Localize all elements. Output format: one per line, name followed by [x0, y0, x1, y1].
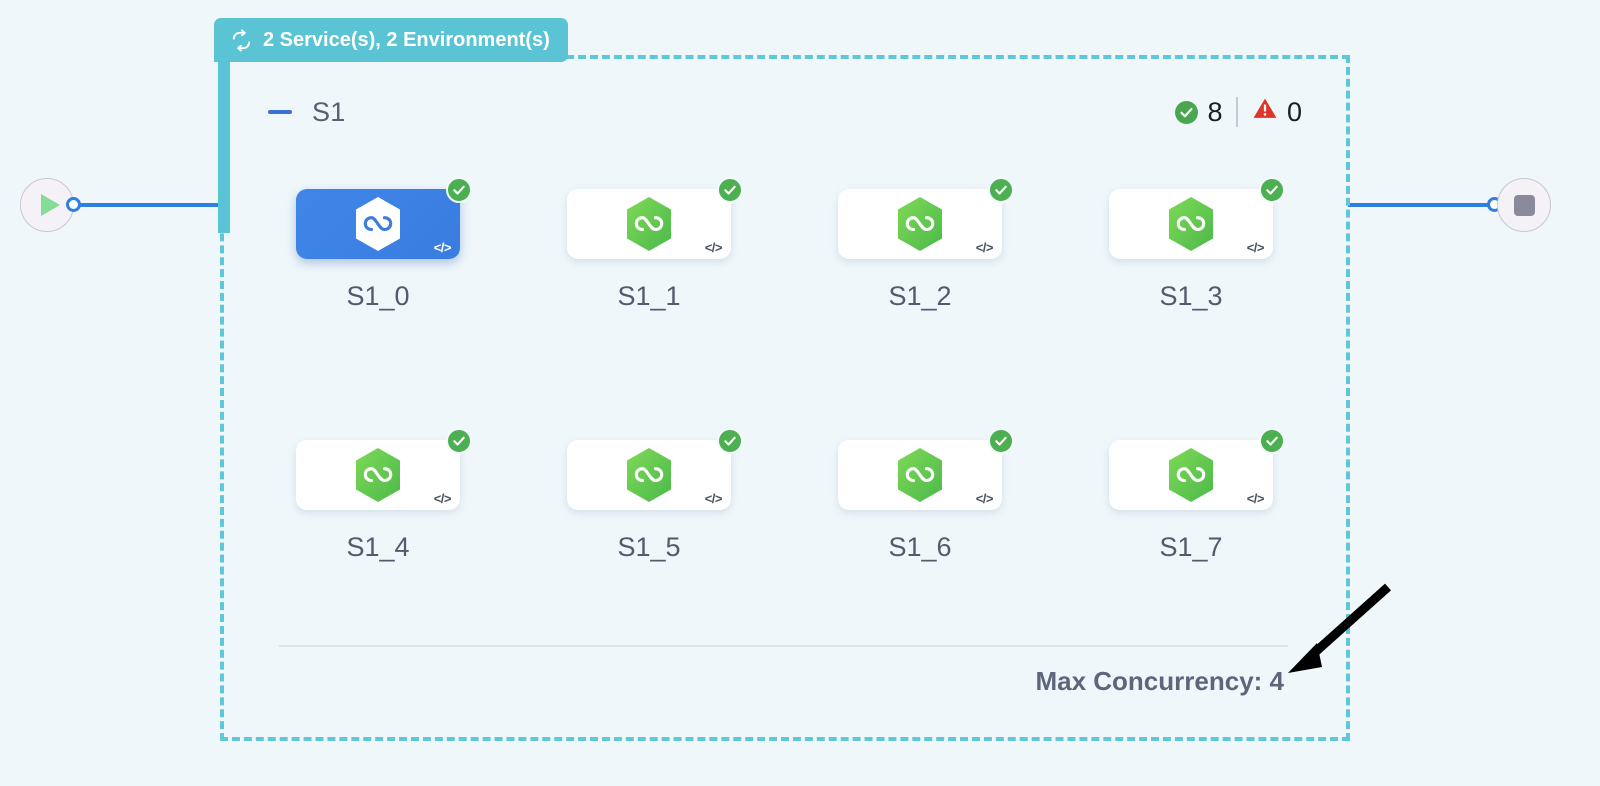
edge-start-to-loop [78, 203, 224, 207]
task-card-wrap: </> S1_4 [296, 440, 460, 563]
check-badge-icon [988, 177, 1014, 203]
hexagon-loop-icon [351, 195, 405, 253]
success-count: 8 [1207, 97, 1222, 128]
task-card[interactable]: </> [838, 189, 1002, 259]
check-badge-icon [717, 428, 743, 454]
task-card-wrap: </> S1_7 [1109, 440, 1273, 563]
hexagon-loop-icon [1164, 195, 1218, 253]
task-card-wrap: </> S1_5 [567, 440, 731, 563]
check-circle-icon [1175, 101, 1198, 124]
status-counters: 8 0 [1175, 96, 1302, 128]
task-card[interactable]: </> [1109, 189, 1273, 259]
task-card-label: S1_2 [838, 281, 1002, 312]
hexagon-loop-icon [1164, 446, 1218, 504]
loop-group-container[interactable] [220, 55, 1350, 741]
max-concurrency-label: Max Concurrency: 4 [279, 666, 1284, 697]
service-name: S1 [312, 97, 345, 128]
check-badge-icon [446, 177, 472, 203]
hexagon-loop-icon [351, 446, 405, 504]
workflow-canvas: 2 Service(s), 2 Environment(s) S1 8 [0, 0, 1600, 786]
check-badge-icon [446, 428, 472, 454]
task-card[interactable]: </> [296, 440, 460, 510]
check-badge-icon [717, 177, 743, 203]
loop-repeat-icon [230, 29, 253, 52]
edge-loop-to-end [1348, 203, 1490, 207]
task-card-label: S1_3 [1109, 281, 1273, 312]
code-glyph: </> [705, 240, 722, 255]
warning-triangle-icon [1252, 96, 1278, 128]
loop-group-badge-label: 2 Service(s), 2 Environment(s) [263, 29, 550, 52]
code-glyph: </> [1247, 491, 1264, 506]
task-card[interactable]: </> [296, 189, 460, 259]
status-divider [1236, 97, 1238, 127]
check-badge-icon [988, 428, 1014, 454]
hexagon-loop-icon [893, 446, 947, 504]
task-card-label: S1_4 [296, 532, 460, 563]
hexagon-loop-icon [893, 195, 947, 253]
play-icon [41, 194, 60, 216]
task-card-label: S1_0 [296, 281, 460, 312]
footer-divider [279, 645, 1288, 647]
code-glyph: </> [976, 491, 993, 506]
code-glyph: </> [434, 240, 451, 255]
task-card-label: S1_6 [838, 532, 1002, 563]
task-card[interactable]: </> [838, 440, 1002, 510]
task-card-wrap: </> S1_6 [838, 440, 1002, 563]
task-card-label: S1_1 [567, 281, 731, 312]
stop-icon [1514, 195, 1535, 216]
code-glyph: </> [434, 491, 451, 506]
hexagon-loop-icon [622, 195, 676, 253]
task-card-label: S1_5 [567, 532, 731, 563]
task-card-wrap: </> S1_1 [567, 189, 731, 312]
task-card-label: S1_7 [1109, 532, 1273, 563]
minus-icon[interactable] [268, 110, 292, 114]
task-card[interactable]: </> [567, 189, 731, 259]
service-header: S1 8 0 [268, 92, 1302, 132]
code-glyph: </> [705, 491, 722, 506]
check-badge-icon [1259, 177, 1285, 203]
check-badge-icon [1259, 428, 1285, 454]
task-card-wrap: </> S1_3 [1109, 189, 1273, 312]
task-card[interactable]: </> [567, 440, 731, 510]
code-glyph: </> [1247, 240, 1264, 255]
code-glyph: </> [976, 240, 993, 255]
loop-group-badge[interactable]: 2 Service(s), 2 Environment(s) [214, 18, 568, 62]
error-count: 0 [1287, 97, 1302, 128]
task-card-wrap: </> S1_0 [296, 189, 460, 312]
task-card-wrap: </> S1_2 [838, 189, 1002, 312]
end-node[interactable] [1497, 178, 1551, 232]
hexagon-loop-icon [622, 446, 676, 504]
task-card[interactable]: </> [1109, 440, 1273, 510]
error-counter: 0 [1252, 96, 1302, 128]
success-counter: 8 [1175, 97, 1222, 128]
